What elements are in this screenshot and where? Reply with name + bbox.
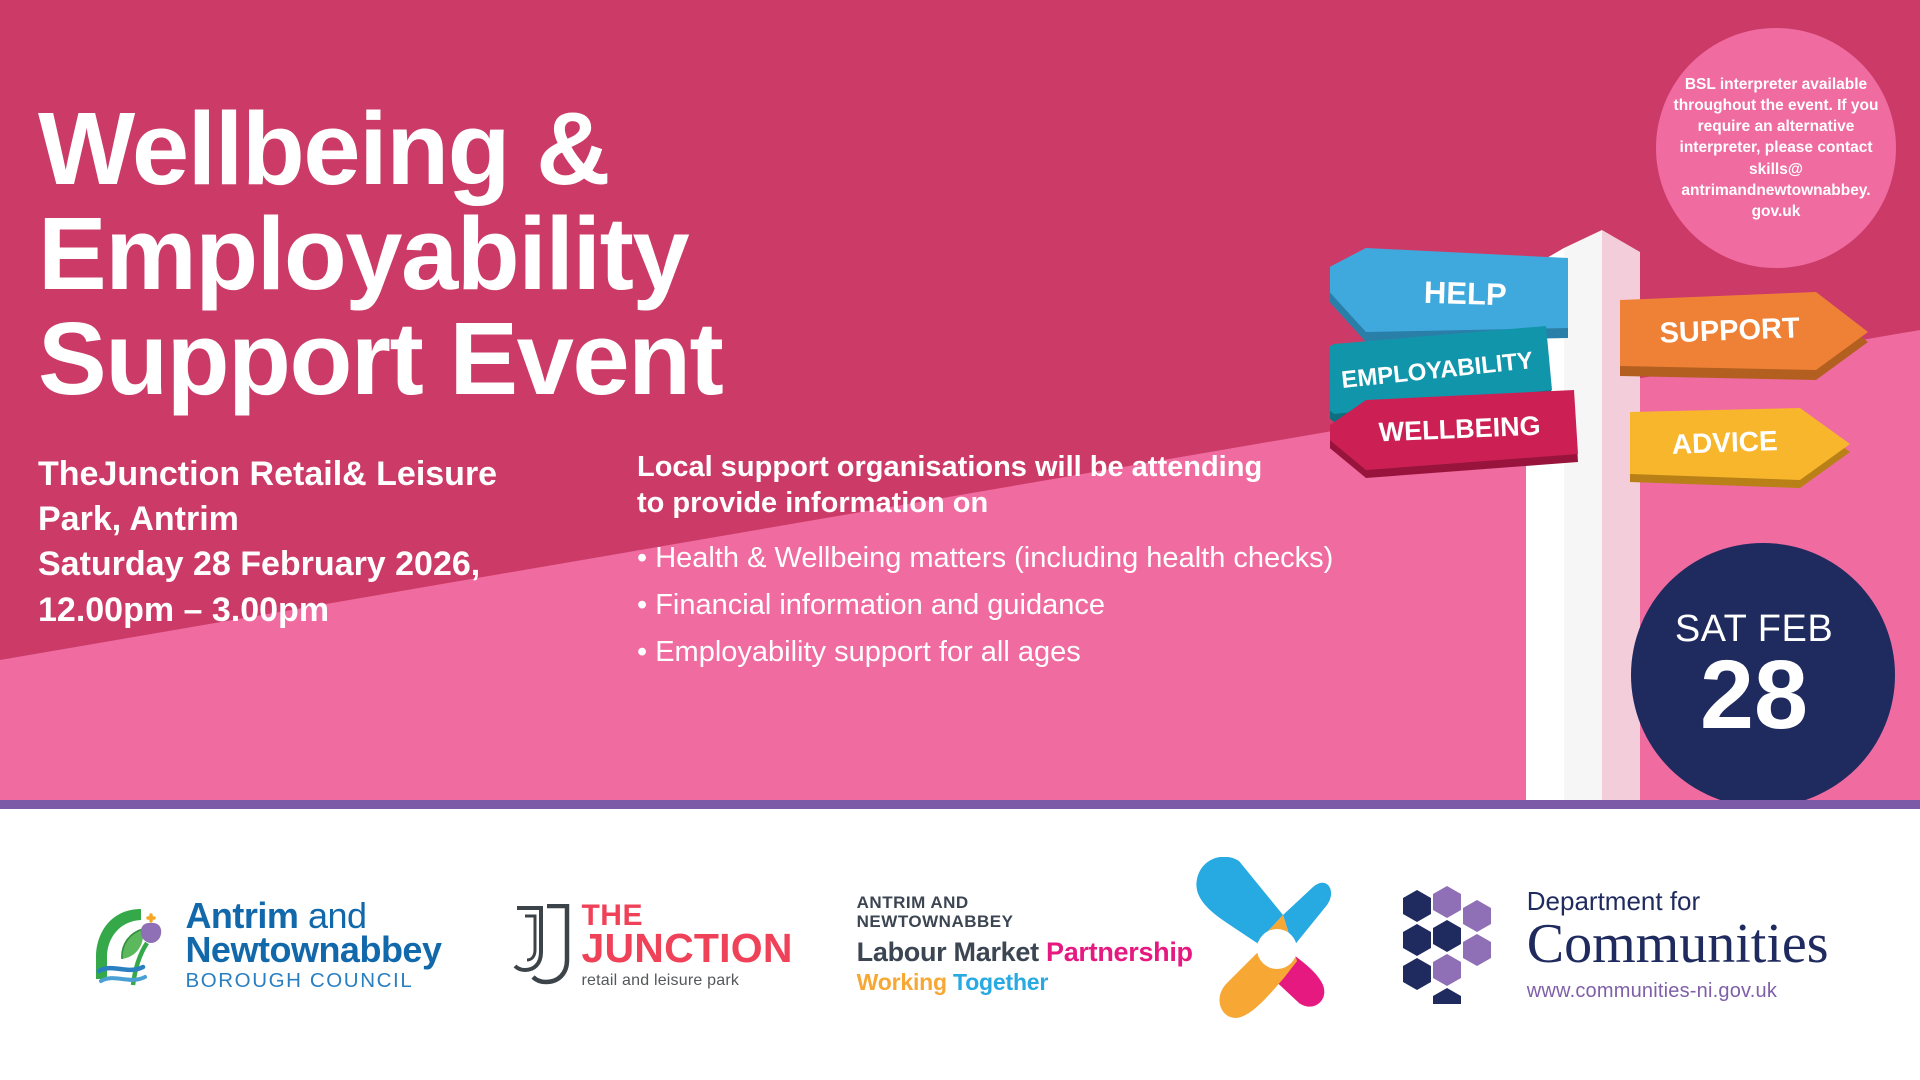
dfc-hexagon-icon	[1395, 886, 1513, 1004]
junction-line-2: JUNCTION	[581, 928, 792, 969]
info-bullet-list: Health & Wellbeing matters (including he…	[637, 535, 1407, 676]
council-emblem-icon	[91, 899, 179, 991]
info-lead-line-1: Local support organisations will be atte…	[637, 450, 1407, 486]
sign-label-help: HELP	[1423, 275, 1507, 313]
page-title: Wellbeing & Employability Support Event	[38, 96, 1238, 411]
info-lead-line-2: to provide information on	[637, 486, 1407, 522]
sign-label-advice: ADVICE	[1671, 425, 1778, 460]
sign-label-support: SUPPORT	[1659, 312, 1801, 349]
bsl-notice-text: BSL interpreter available throughout the…	[1656, 74, 1896, 222]
lmp-x-mark-icon	[1187, 857, 1339, 1039]
venue-details: TheJunction Retail& Leisure Park, Antrim…	[38, 452, 558, 633]
bsl-notice-badge: BSL interpreter available throughout the…	[1656, 28, 1896, 268]
council-line-2: Newtownabbey	[185, 932, 441, 968]
dfc-line-3: www.communities-ni.gov.uk	[1527, 981, 1829, 1001]
logo-labour-market-partnership: ANTRIM AND NEWTOWNABBEY Labour Market Pa…	[857, 851, 1339, 1039]
title-line-2: Support Event	[38, 306, 1238, 411]
sign-advice: ADVICE	[1630, 408, 1850, 488]
lmp-line-3-dark: Labour Market	[857, 937, 1039, 967]
dfc-line-2: Communities	[1527, 915, 1829, 974]
lmp-line-1: ANTRIM AND	[857, 893, 1193, 912]
venue-line-2: Park, Antrim	[38, 497, 558, 542]
lmp-line-2: NEWTOWNABBEY	[857, 912, 1193, 931]
dfc-line-1: Department for	[1527, 888, 1829, 914]
list-item: Health & Wellbeing matters (including he…	[637, 535, 1407, 582]
event-time: 12.00pm – 3.00pm	[38, 588, 558, 633]
council-line-3: BOROUGH COUNCIL	[185, 971, 441, 992]
lmp-line-3-pink: Partnership	[1046, 937, 1193, 967]
list-item: Financial information and guidance	[637, 582, 1407, 629]
logo-the-junction: THE JUNCTION retail and leisure park	[513, 901, 792, 989]
poster-canvas: Wellbeing & Employability Support Event …	[0, 0, 1920, 1080]
logo-antrim-newtownabbey-council: Antrim and Newtownabbey BOROUGH COUNCIL	[91, 898, 441, 992]
lmp-line-4-blue: Together	[953, 969, 1048, 995]
venue-line-1: TheJunction Retail& Leisure	[38, 452, 558, 497]
sign-support: SUPPORT	[1620, 292, 1868, 380]
divider-rule	[0, 800, 1920, 809]
lmp-line-4-orange: Working	[857, 969, 947, 995]
event-date: Saturday 28 February 2026,	[38, 542, 558, 587]
title-line-1: Wellbeing & Employability	[38, 91, 688, 311]
list-item: Employability support for all ages	[637, 629, 1407, 676]
date-badge: SAT FEB 28	[1628, 540, 1898, 810]
junction-line-3: retail and leisure park	[581, 973, 792, 989]
info-lead: Local support organisations will be atte…	[637, 450, 1407, 521]
info-block: Local support organisations will be atte…	[637, 450, 1407, 676]
footer-logo-bar: Antrim and Newtownabbey BOROUGH COUNCIL …	[0, 809, 1920, 1080]
logo-department-for-communities: Department for Communities www.communiti…	[1395, 886, 1829, 1004]
junction-monogram-icon	[513, 904, 571, 986]
sign-wellbeing: WELLBEING	[1330, 390, 1578, 478]
